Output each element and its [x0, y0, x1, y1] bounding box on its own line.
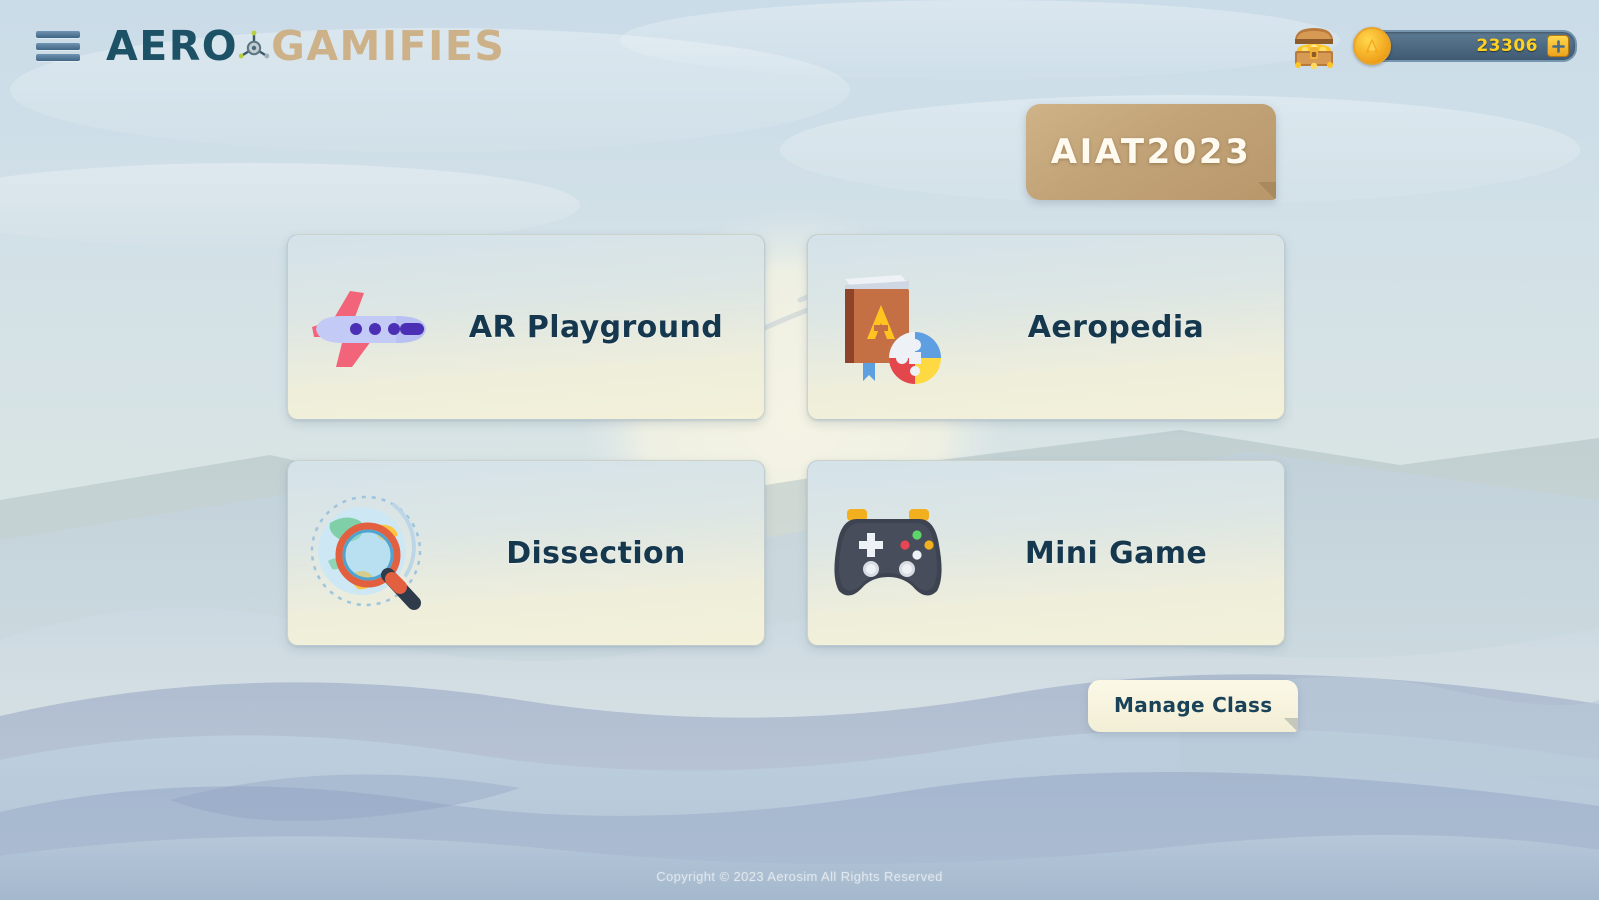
hamburger-menu-icon[interactable]: [36, 28, 80, 64]
propeller-icon: [234, 24, 274, 68]
treasure-chest-icon[interactable]: [1287, 19, 1341, 73]
menu-bar-1: [36, 31, 80, 38]
card-dissection[interactable]: Dissection: [287, 460, 765, 646]
coin-amount-value: 23306: [1476, 36, 1538, 56]
top-bar: AERO GAMIFIES: [0, 0, 1599, 92]
class-code-label: AIAT2023: [1051, 132, 1251, 172]
manage-class-button[interactable]: Manage Class: [1088, 680, 1298, 732]
class-code-tab[interactable]: AIAT2023: [1026, 104, 1276, 200]
app-logo[interactable]: AERO GAMIFIES: [106, 22, 505, 70]
plus-add-currency-icon[interactable]: [1547, 35, 1569, 57]
menu-bar-2: [36, 43, 80, 50]
coin-amount-field: 23306: [1377, 30, 1577, 62]
card-ar-playground[interactable]: AR Playground: [287, 234, 765, 420]
card-label-ar-playground: AR Playground: [448, 310, 764, 345]
menu-card-grid: AR Playground: [287, 234, 1285, 646]
card-label-aeropedia: Aeropedia: [968, 310, 1284, 345]
card-aeropedia[interactable]: Aeropedia: [807, 234, 1285, 420]
gamepad-icon: [808, 461, 968, 645]
menu-bar-3: [36, 54, 80, 61]
coin-balance-bar: 23306: [1349, 26, 1577, 66]
card-mini-game[interactable]: Mini Game: [807, 460, 1285, 646]
coin-icon: [1353, 27, 1391, 65]
manage-class-label: Manage Class: [1114, 693, 1272, 717]
dictionary-book-puzzle-icon: [808, 235, 968, 419]
currency-hud: 23306: [1287, 19, 1577, 73]
logo-text-aero: AERO: [106, 22, 238, 70]
logo-text-gamifies: GAMIFIES: [271, 22, 505, 70]
footer-copyright: Copyright © 2023 Aerosim All Rights Rese…: [0, 869, 1599, 884]
globe-magnifier-icon: [288, 461, 448, 645]
card-label-mini-game: Mini Game: [968, 536, 1284, 571]
airplane-icon: [288, 235, 448, 419]
card-label-dissection: Dissection: [448, 536, 764, 571]
